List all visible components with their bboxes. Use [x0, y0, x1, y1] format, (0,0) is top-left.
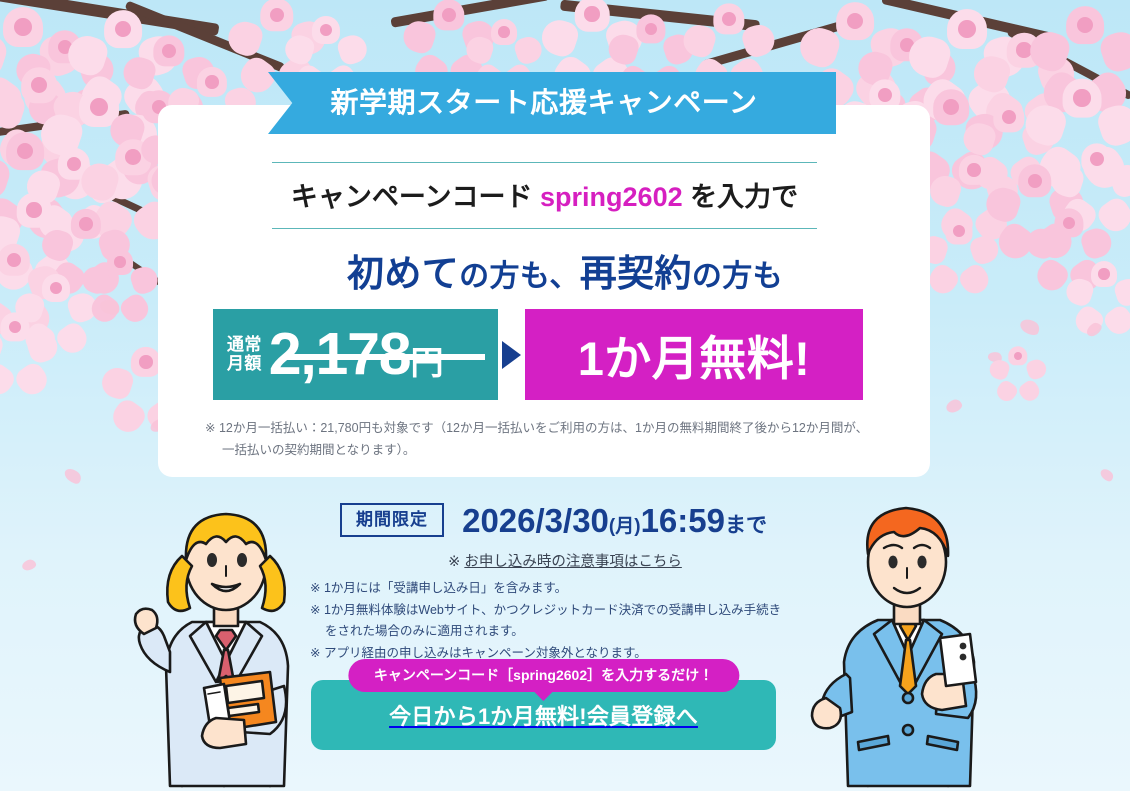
- blossom: [1042, 196, 1096, 250]
- blossom: [34, 16, 96, 78]
- free-month-text: 1か月無料!: [578, 320, 811, 389]
- petal: [1084, 320, 1103, 338]
- blossom: [184, 54, 240, 110]
- blossom: [1046, 62, 1118, 134]
- blossom: [0, 0, 60, 64]
- blossom: [876, 14, 938, 76]
- branch: [702, 20, 849, 70]
- card-footnote-line2: 一括払いの契約期間となります）。: [205, 440, 905, 462]
- blossom: [980, 88, 1038, 146]
- campaign-code-text: キャンペーンコード spring2602 を入力で: [272, 175, 817, 214]
- petal: [98, 297, 122, 317]
- code-prefix: キャンペーンコード: [291, 182, 540, 212]
- branch: [0, 0, 220, 36]
- free-month-box: 1か月無料!: [525, 309, 863, 400]
- deadline-day-of-week: (月): [609, 516, 641, 537]
- deadline-until: まで: [725, 514, 767, 537]
- headline-part2: の方も、: [459, 260, 580, 293]
- regular-label-line1: 通常: [227, 336, 262, 354]
- deadline-row: 期間限定 2026/3/30(月)16:59まで: [340, 503, 767, 537]
- petal: [62, 466, 84, 487]
- branch: [560, 0, 760, 31]
- note-item-2-continued: をされた場合のみに適用されます。: [310, 621, 830, 643]
- male-student-illustration: [800, 486, 1015, 791]
- headline-part4: の方も: [692, 260, 783, 293]
- blossom: [100, 124, 166, 190]
- campaign-code-value: spring2602: [540, 182, 683, 212]
- blossom: [88, 0, 158, 64]
- petal: [987, 351, 1003, 363]
- blossom: [62, 70, 136, 144]
- blossom: [820, 0, 890, 56]
- branch: [1006, 28, 1130, 101]
- petal: [1018, 316, 1042, 338]
- blossom: [0, 116, 60, 186]
- campaign-code-row: キャンペーンコード spring2602 を入力で: [272, 162, 817, 229]
- card-footnote-line1: ※ 12か月一括払い：21,780円も対象です（12か月一括払いをご利用の方は、…: [205, 418, 905, 440]
- blossom: [700, 0, 758, 48]
- blossom: [624, 2, 678, 56]
- blossom: [6, 52, 72, 118]
- petal: [944, 398, 963, 415]
- branch: [45, 163, 166, 224]
- blossom: [1050, 0, 1120, 60]
- regular-price-box: 通常 月額 2,178円: [213, 309, 498, 400]
- ribbon-right-notch: [796, 72, 836, 134]
- ribbon-title: 新学期スタート応援キャンペーン: [330, 89, 757, 117]
- blossom: [0, 300, 42, 354]
- blossom: [140, 22, 198, 80]
- note-item-2: ※ 1か月無料体験はWebサイト、かつクレジットカード決済での受講申し込み手続き: [310, 600, 830, 622]
- branch: [0, 110, 130, 139]
- cta-code-badge: キャンペーンコード［spring2602］を入力するだけ！: [348, 659, 739, 692]
- branch: [390, 0, 549, 28]
- blossom: [480, 8, 528, 56]
- deadline-date-value: 2026/3/30: [462, 502, 609, 539]
- headline-part3: 再契約: [580, 253, 692, 294]
- blossom: [300, 4, 352, 56]
- deadline-time: 16:59: [641, 502, 725, 539]
- female-student-illustration: [120, 486, 330, 791]
- regular-price-label: 通常 月額: [227, 336, 262, 372]
- strikethrough-line: [285, 354, 485, 360]
- headline-part1: 初めて: [347, 253, 459, 294]
- blossom: [946, 142, 1002, 198]
- blossom: [44, 134, 104, 194]
- signup-button-label: 今日から1か月無料!会員登録へ: [389, 699, 698, 731]
- currency-unit: 円: [410, 344, 442, 381]
- cta-section: 今日から1か月無料!会員登録へ キャンペーンコード［spring2602］を入力…: [311, 680, 776, 750]
- limited-time-badge: 期間限定: [340, 503, 444, 537]
- blossom: [930, 0, 1004, 66]
- petal: [1099, 467, 1116, 484]
- branch: [881, 0, 1059, 44]
- blossom: [992, 18, 1056, 82]
- campaign-ribbon: 新学期スタート応援キャンペーン: [268, 72, 820, 134]
- blossom: [560, 0, 624, 46]
- blossom: [1000, 338, 1036, 374]
- blossom: [1068, 130, 1126, 188]
- regular-label-line2: 月額: [227, 355, 262, 373]
- note-item-1: ※ 1か月には「受講申し込み日」を含みます。: [310, 578, 830, 600]
- deadline-date: 2026/3/30(月)16:59まで: [462, 504, 767, 537]
- notice-link-label[interactable]: お申し込み時の注意事項はこちら: [464, 554, 682, 570]
- card-footnote: ※ 12か月一括払い：21,780円も対象です（12か月一括払いをご利用の方は、…: [205, 418, 905, 462]
- blossom: [1004, 150, 1066, 212]
- notes-list: ※ 1か月には「受講申し込み日」を含みます。 ※ 1か月無料体験はWebサイト、…: [310, 578, 830, 664]
- code-suffix: を入力で: [683, 182, 799, 212]
- blossom: [420, 0, 478, 44]
- blossom: [2, 178, 66, 242]
- branch: [125, 0, 286, 72]
- price-comparison: 通常 月額 2,178円 1か月無料!: [213, 309, 863, 400]
- right-triangle-arrow-icon: [498, 309, 525, 400]
- notice-mark: ※: [448, 554, 460, 570]
- page-headline: 初めての方も、再契約の方も: [0, 243, 1130, 297]
- blossom: [246, 0, 308, 46]
